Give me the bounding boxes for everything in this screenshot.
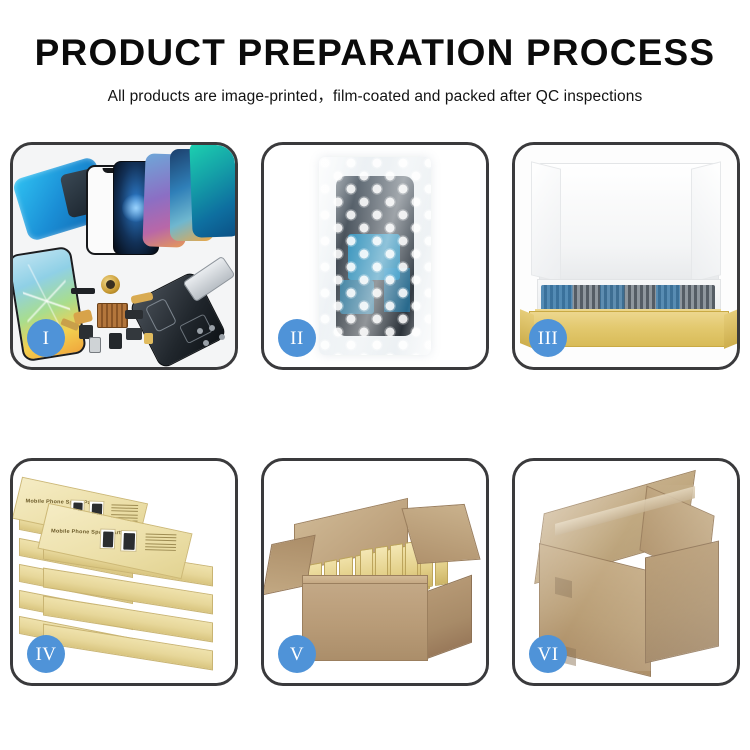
page-subtitle: All products are image-printed，film-coat…: [0, 84, 750, 106]
wrapped-item-in-box-icon: [541, 285, 715, 311]
spare-part-icon: [126, 328, 142, 340]
process-step-grid: I II: [10, 142, 740, 686]
spare-part-icon: [144, 333, 153, 344]
spare-part-icon: [109, 333, 122, 349]
spare-part-icon: [125, 310, 143, 319]
step-badge-1: I: [27, 319, 65, 357]
screws-icon: [195, 325, 229, 351]
product-preparation-infographic: PRODUCT PREPARATION PROCESS All products…: [0, 0, 750, 750]
speaker-coil-icon: [101, 275, 120, 294]
page-title: PRODUCT PREPARATION PROCESS: [0, 34, 750, 71]
step-panel-5[interactable]: V: [261, 458, 489, 686]
bubble-wrap-bag-icon: [319, 157, 431, 355]
step-panel-6[interactable]: VI: [512, 458, 740, 686]
box-art-phone-icon: [100, 528, 116, 549]
box-flap-left-icon: [531, 161, 561, 282]
step-panel-1[interactable]: I: [10, 142, 238, 370]
green-gradient-phone-icon: [189, 145, 235, 238]
step-panel-2[interactable]: II: [261, 142, 489, 370]
carton-front-panel-icon: [302, 583, 428, 661]
box-flap-right-icon: [691, 161, 721, 282]
step-badge-3: III: [529, 319, 567, 357]
plastic-sheen-overlay: [319, 157, 431, 355]
sealed-carton-side-icon: [645, 540, 719, 663]
step-badge-6: VI: [529, 635, 567, 673]
spare-part-icon: [71, 288, 95, 294]
step-badge-4: IV: [27, 635, 65, 673]
box-art-phone-icon: [120, 530, 137, 552]
step-panel-4[interactable]: Mobile Phone Spare Parts Mobile Phone Sp…: [10, 458, 238, 686]
step-badge-5: V: [278, 635, 316, 673]
sim-tray-icon: [89, 337, 101, 353]
copper-chip-icon: [97, 303, 128, 328]
step-panel-3[interactable]: III: [512, 142, 740, 370]
header: PRODUCT PREPARATION PROCESS All products…: [0, 0, 750, 106]
box-spec-lines: [145, 534, 176, 553]
step-badge-2: II: [278, 319, 316, 357]
